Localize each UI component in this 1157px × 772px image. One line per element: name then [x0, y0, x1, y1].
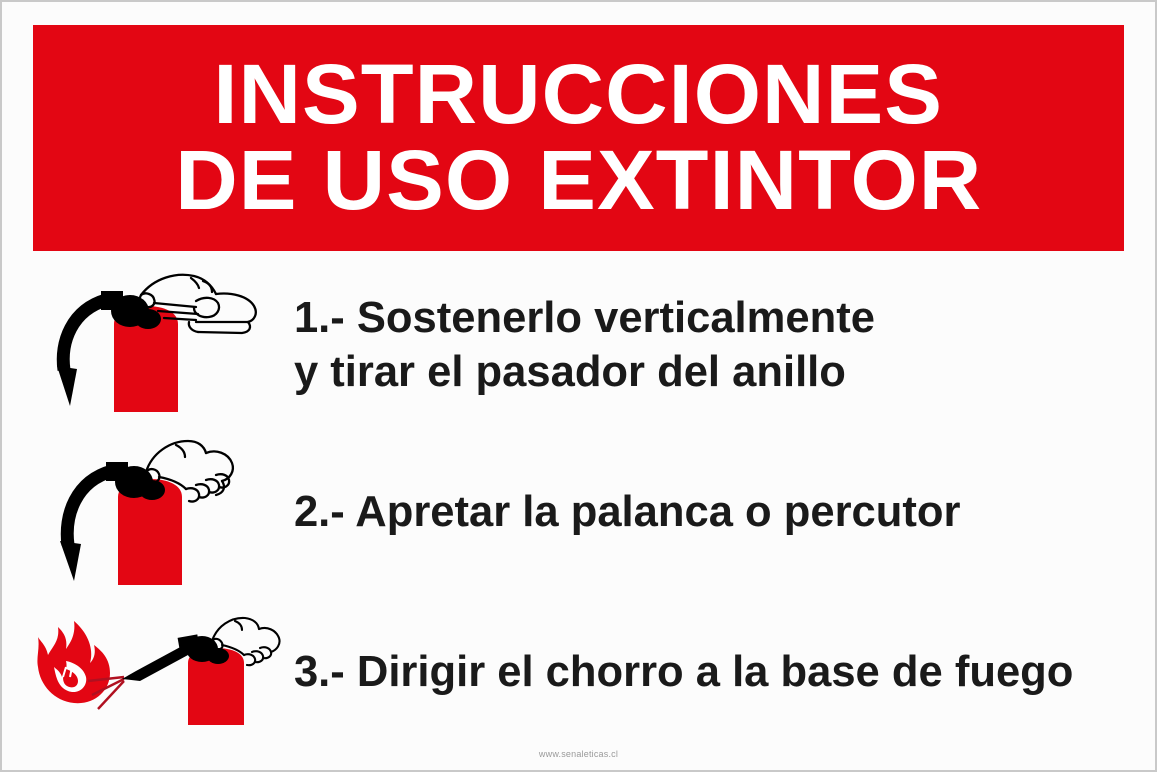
instruction-list: 1.- Sostenerlo verticalmente y tirar el …	[33, 257, 1128, 742]
footer-watermark: www.senaleticas.cl	[2, 749, 1155, 759]
page-title-line-2: DE USO EXTINTOR	[175, 138, 982, 224]
instruction-step-1: 1.- Sostenerlo verticalmente y tirar el …	[33, 265, 1128, 425]
instruction-step-3: 3.- Dirigir el chorro a la base de fuego	[33, 612, 1128, 732]
extinguisher-spraying-flame-icon	[33, 615, 288, 730]
instruction-step-1-text: 1.- Sostenerlo verticalmente y tirar el …	[288, 291, 1120, 398]
hand-squeezing-lever-extinguisher-icon	[33, 435, 288, 590]
sign-header-banner: INSTRUCCIONES DE USO EXTINTOR	[33, 25, 1124, 251]
instruction-step-3-text: 3.- Dirigir el chorro a la base de fuego	[288, 645, 1120, 699]
fire-extinguisher-instruction-sign: INSTRUCCIONES DE USO EXTINTOR	[0, 0, 1157, 772]
hand-pulling-pin-extinguisher-icon	[33, 270, 288, 420]
page-title-line-1: INSTRUCCIONES	[214, 52, 944, 138]
instruction-step-2: 2.- Apretar la palanca o percutor	[33, 432, 1128, 592]
instruction-step-2-text: 2.- Apretar la palanca o percutor	[288, 485, 1120, 539]
